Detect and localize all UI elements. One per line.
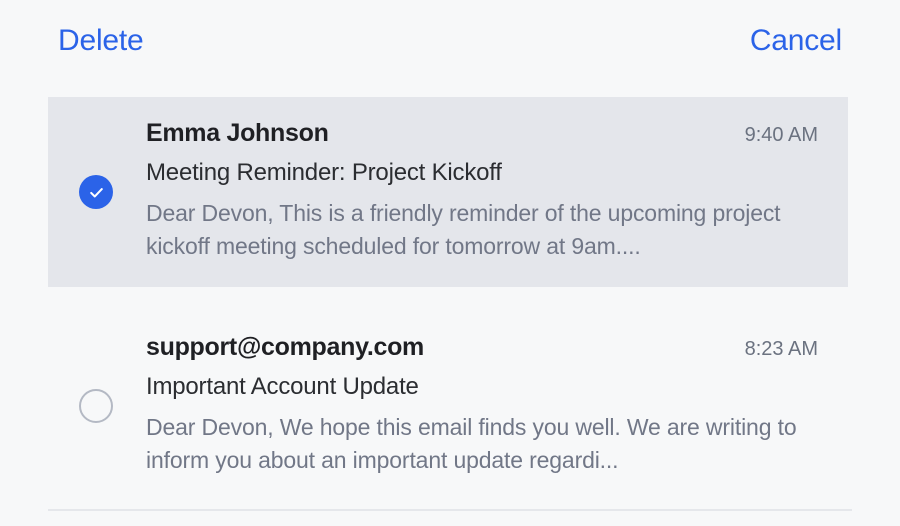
row-spacer xyxy=(0,287,900,311)
cancel-button[interactable]: Cancel xyxy=(750,26,842,56)
email-timestamp: 8:23 AM xyxy=(729,338,818,361)
email-list-item[interactable]: Emma Johnson 9:40 AM Meeting Reminder: P… xyxy=(48,97,848,287)
email-subject: Important Account Update xyxy=(146,373,818,401)
email-preview: Dear Devon, We hope this email finds you… xyxy=(146,411,806,477)
email-sender: support@company.com xyxy=(146,333,424,362)
email-header-line: support@company.com 8:23 AM xyxy=(146,333,818,362)
email-list: Emma Johnson 9:40 AM Meeting Reminder: P… xyxy=(0,97,900,519)
email-timestamp: 9:40 AM xyxy=(729,124,818,147)
circle-outline-icon[interactable] xyxy=(79,389,113,423)
email-preview: Dear Devon, This is a friendly reminder … xyxy=(146,197,806,263)
list-divider xyxy=(48,509,852,511)
selection-action-bar: Delete Cancel xyxy=(0,0,900,82)
email-subject: Meeting Reminder: Project Kickoff xyxy=(146,159,818,187)
delete-button[interactable]: Delete xyxy=(58,26,144,56)
email-list-item[interactable]: support@company.com 8:23 AM Important Ac… xyxy=(48,311,848,501)
email-header-line: Emma Johnson 9:40 AM xyxy=(146,119,818,148)
email-sender: Emma Johnson xyxy=(146,119,329,148)
check-circle-filled-icon[interactable] xyxy=(79,175,113,209)
